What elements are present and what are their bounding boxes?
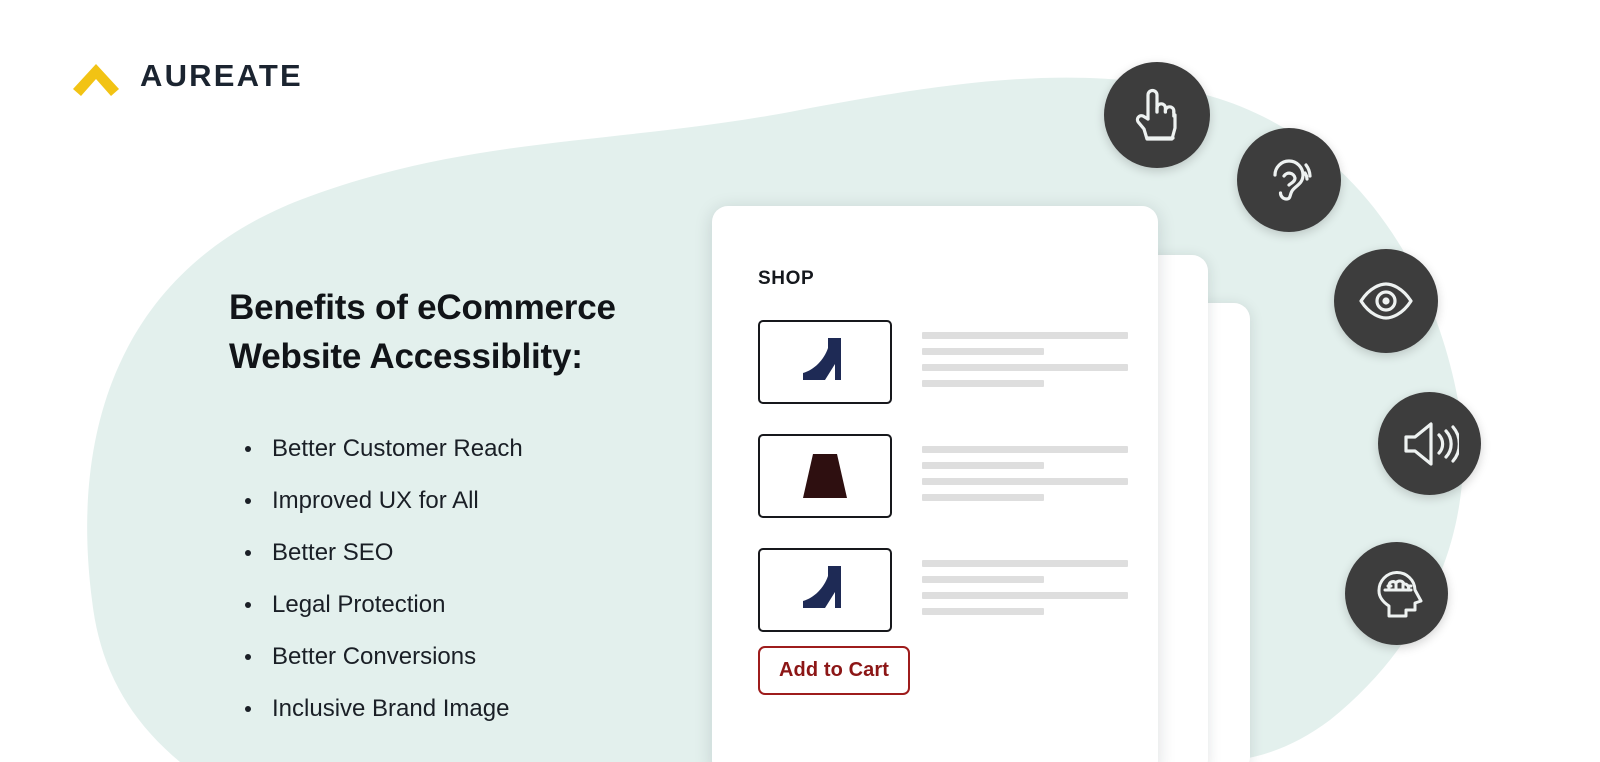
page-title: Benefits of eCommerce Website Accessibli… — [229, 283, 699, 381]
product-text-placeholder — [922, 332, 1128, 387]
brand-logo: AUREATE — [68, 56, 303, 96]
placeholder-line — [922, 576, 1044, 583]
list-item: Better Conversions — [245, 645, 699, 669]
chevron-up-icon — [68, 56, 124, 96]
product-thumbnail[interactable] — [758, 434, 892, 518]
list-item[interactable] — [758, 434, 1128, 518]
placeholder-line — [922, 348, 1044, 355]
shop-card: SHOP — [712, 206, 1158, 762]
headline-line-1: Benefits of eCommerce — [229, 288, 616, 327]
product-list — [758, 320, 1128, 632]
benefits-list: Better Customer Reach Improved UX for Al… — [229, 437, 699, 721]
brand-name: AUREATE — [140, 58, 303, 94]
headline-line-2: Website Accessiblity: — [229, 337, 583, 376]
list-item[interactable] — [758, 548, 1128, 632]
placeholder-line — [922, 446, 1128, 453]
list-item-label: Inclusive Brand Image — [272, 695, 509, 722]
list-item-label: Better Customer Reach — [272, 435, 523, 462]
accessibility-badge-motor[interactable] — [1104, 62, 1210, 168]
illustration-canvas: AUREATE Benefits of eCommerce Website Ac… — [0, 0, 1600, 762]
speaker-volume-icon — [1401, 419, 1459, 469]
placeholder-line — [922, 380, 1044, 387]
add-to-cart-button[interactable]: Add to Cart — [758, 646, 910, 695]
product-text-placeholder — [922, 446, 1128, 501]
placeholder-line — [922, 608, 1044, 615]
accessibility-badge-hearing[interactable] — [1237, 128, 1341, 232]
bullet-icon — [245, 654, 251, 660]
product-thumbnail[interactable] — [758, 548, 892, 632]
accessibility-badge-vision[interactable] — [1334, 249, 1438, 353]
placeholder-line — [922, 592, 1128, 599]
list-item-label: Improved UX for All — [272, 487, 479, 514]
placeholder-line — [922, 332, 1128, 339]
bullet-icon — [245, 446, 251, 452]
bullet-icon — [245, 498, 251, 504]
list-item: Legal Protection — [245, 593, 699, 617]
copy-block: Benefits of eCommerce Website Accessibli… — [229, 283, 699, 721]
ear-icon — [1262, 151, 1316, 209]
product-text-placeholder — [922, 560, 1128, 615]
placeholder-line — [922, 560, 1128, 567]
high-heel-boot-icon — [794, 334, 856, 390]
shop-heading: SHOP — [758, 268, 814, 290]
placeholder-line — [922, 462, 1044, 469]
list-item-label: Legal Protection — [272, 591, 445, 618]
list-item-label: Better Conversions — [272, 643, 476, 670]
accessibility-badge-audio[interactable] — [1378, 392, 1481, 495]
placeholder-line — [922, 478, 1128, 485]
placeholder-line — [922, 494, 1044, 501]
product-thumbnail[interactable] — [758, 320, 892, 404]
list-item: Improved UX for All — [245, 489, 699, 513]
high-heel-boot-icon — [794, 562, 856, 618]
placeholder-line — [922, 364, 1128, 371]
head-brain-icon — [1369, 565, 1425, 623]
list-item: Better Customer Reach — [245, 437, 699, 461]
bullet-icon — [245, 550, 251, 556]
list-item: Better SEO — [245, 541, 699, 565]
list-item-label: Better SEO — [272, 539, 393, 566]
skirt-icon — [794, 448, 856, 504]
accessibility-badge-cognitive[interactable] — [1345, 542, 1448, 645]
list-item: Inclusive Brand Image — [245, 697, 699, 721]
pointing-hand-icon — [1129, 85, 1185, 145]
list-item[interactable] — [758, 320, 1128, 404]
bullet-icon — [245, 602, 251, 608]
bullet-icon — [245, 706, 251, 712]
eye-icon — [1357, 280, 1415, 322]
